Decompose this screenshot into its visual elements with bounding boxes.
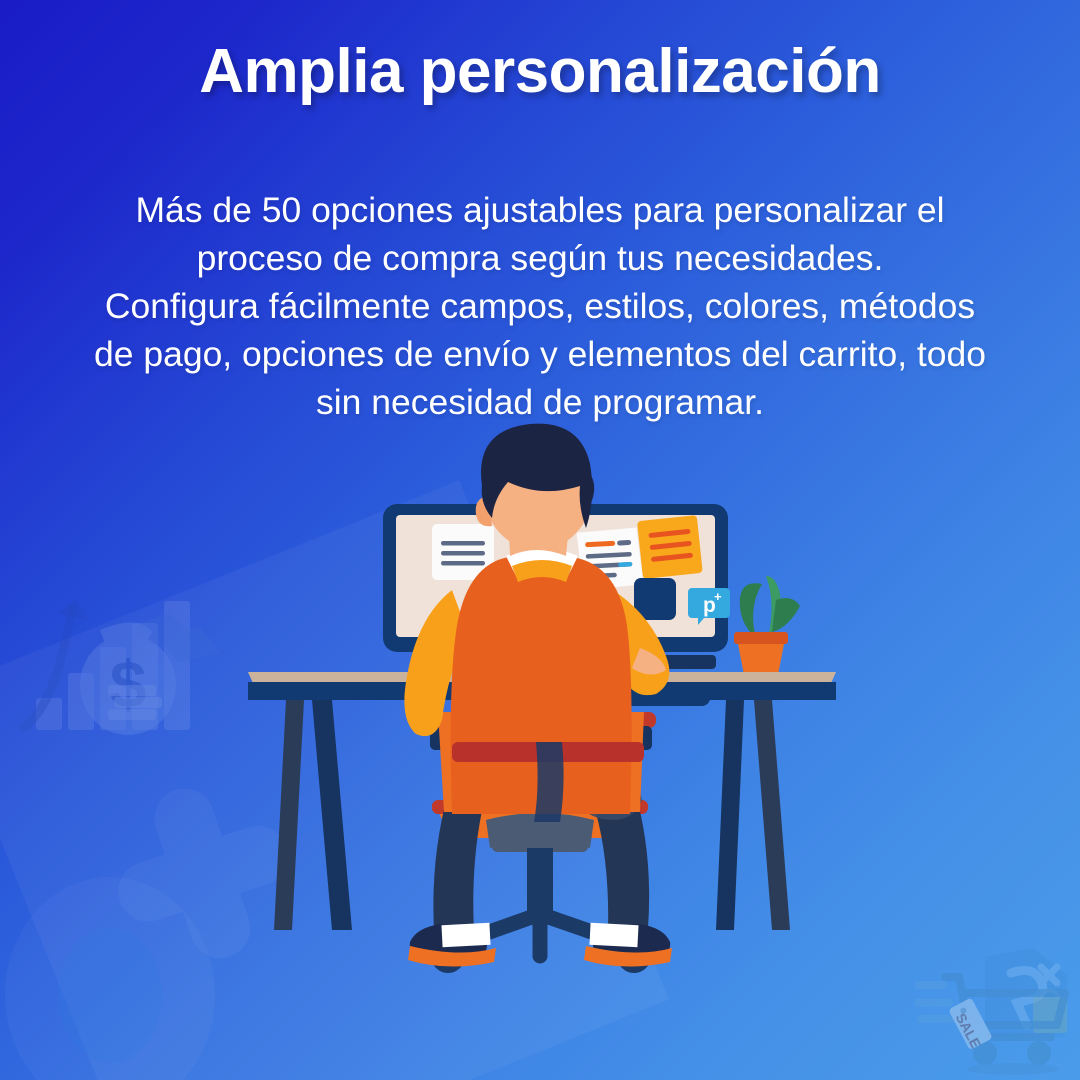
screen-sticky-note bbox=[637, 515, 703, 579]
person-shoe-right bbox=[584, 923, 672, 967]
promotional-poster: $ bbox=[0, 0, 1080, 1080]
workspace-illustration: p + bbox=[0, 0, 1080, 1080]
desk-plant bbox=[734, 576, 800, 680]
person-shoe-left bbox=[408, 923, 496, 967]
svg-text:+: + bbox=[714, 589, 722, 604]
